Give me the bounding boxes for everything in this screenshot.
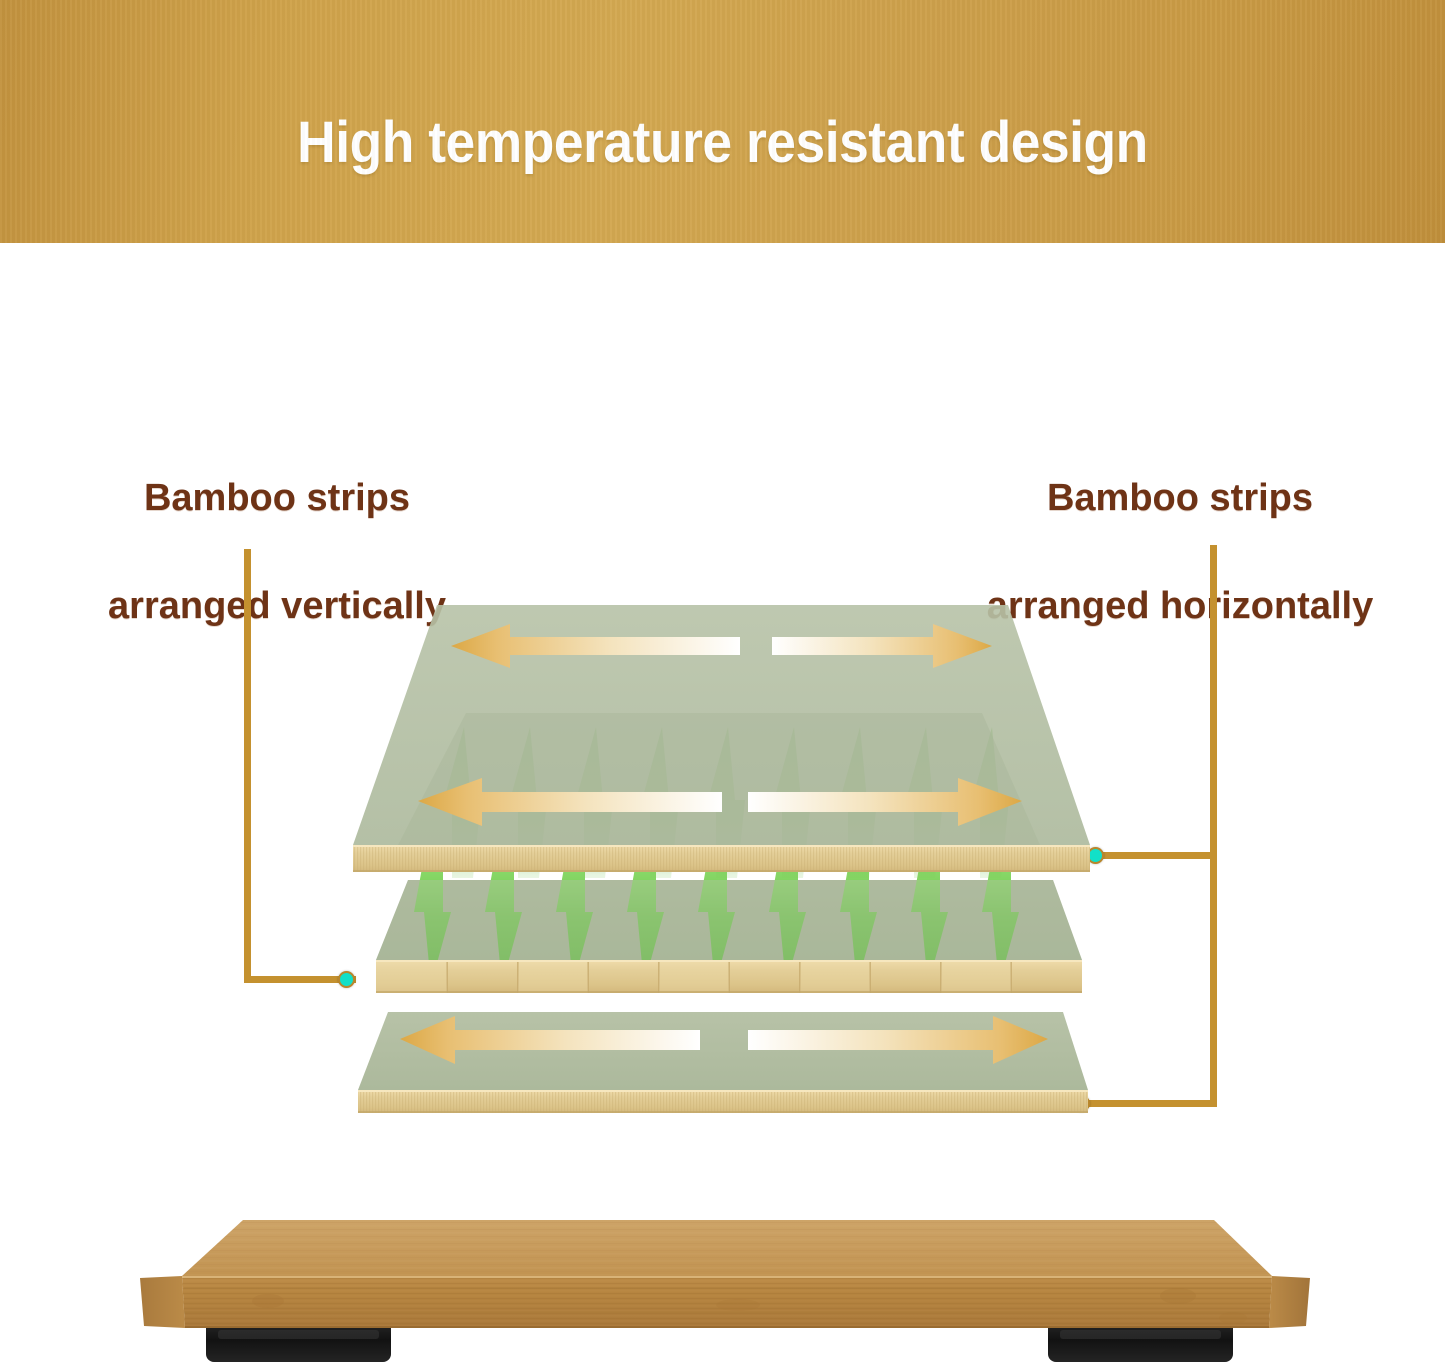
layered-bamboo-diagram	[0, 0, 1445, 1362]
diagram-layer-top	[353, 605, 1090, 878]
diagram-layer-bottom	[358, 1012, 1088, 1113]
bamboo-board-photo	[118, 1208, 1332, 1362]
diagram-layer-middle	[376, 868, 1082, 993]
top-plate-inner-panel	[398, 713, 1040, 845]
bottom-plate-surface	[358, 1012, 1088, 1090]
board-left-end-cap	[140, 1276, 185, 1328]
board-right-end-cap	[1269, 1276, 1310, 1328]
